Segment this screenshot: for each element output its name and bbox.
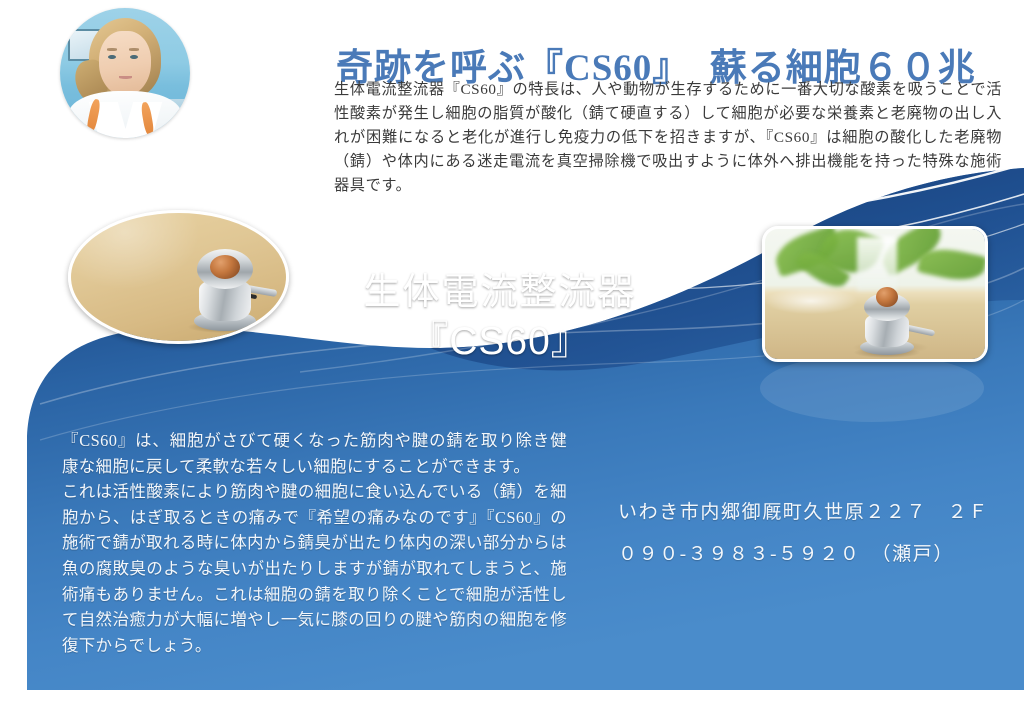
header-band: 奇跡を呼ぶ『CS60』 蘇る細胞６０兆 生体電流整流器『CS60』の特長は、人や… <box>0 0 1024 196</box>
product-title: 生体電流整流器 『CS60』 <box>330 268 670 368</box>
cs60-device-illustration <box>857 287 917 355</box>
doctor-portrait-photo <box>60 8 190 138</box>
contact-info: いわき市内郷御厩町久世原２２７ ２Ｆ ０９０‐３９８３‐５９２０ （瀬戸） <box>618 492 1008 576</box>
description-paragraph-2: これは活性酸素により筋肉や腱の細胞に食い込んでいる（錆）を細胞から、はぎ取るとき… <box>62 479 567 658</box>
flyer-page: 奇跡を呼ぶ『CS60』 蘇る細胞６０兆 生体電流整流器『CS60』の特長は、人や… <box>0 0 1024 701</box>
description-text: 『CS60』は、細胞がさびて硬くなった筋肉や腱の錆を取り除き健康な細胞に戻して柔… <box>62 428 567 658</box>
intro-paragraph: 生体電流整流器『CS60』の特長は、人や動物が生存するために一番大切な酸素を吸う… <box>334 78 1002 198</box>
photo-reflection <box>760 354 984 422</box>
description-paragraph-1: 『CS60』は、細胞がさびて硬くなった筋肉や腱の錆を取り除き健康な細胞に戻して柔… <box>62 428 567 479</box>
cs60-device-illustration <box>189 243 261 331</box>
product-title-line1: 生体電流整流器 <box>330 268 670 316</box>
contact-address: いわき市内郷御厩町久世原２２７ ２Ｆ <box>618 492 1008 534</box>
product-title-line2: 『CS60』 <box>330 316 670 368</box>
cs60-device-card-photo <box>762 226 988 362</box>
contact-phone: ０９０‐３９８３‐５９２０ （瀬戸） <box>618 534 1008 576</box>
cs60-device-oval-photo <box>68 210 289 344</box>
